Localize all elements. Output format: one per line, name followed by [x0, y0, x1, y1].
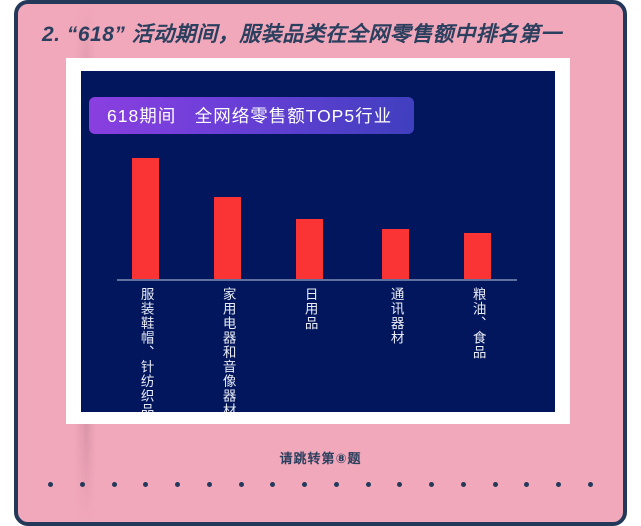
bar-label-1: 家用电器和音像器材	[220, 287, 234, 412]
separator-dot	[493, 482, 498, 487]
separator-dot	[524, 482, 529, 487]
bar-4	[464, 233, 491, 279]
bar-group-4: 粮油、食品	[464, 233, 491, 279]
separator-dot	[366, 482, 371, 487]
separator-dot	[80, 482, 85, 487]
bar-group-2: 日用品	[296, 219, 323, 279]
chart-frame: 618期间 全网络零售额TOP5行业 服装鞋帽、针纺织品 家用电器和音像器材 日…	[66, 58, 570, 424]
bar-chart-plot-area: 服装鞋帽、针纺织品 家用电器和音像器材 日用品 通讯器材 粮油、食品	[81, 71, 555, 412]
separator-dot	[429, 482, 434, 487]
separator-dot	[143, 482, 148, 487]
x-axis-line	[117, 279, 517, 281]
separator-dot	[239, 482, 244, 487]
separator-dot	[556, 482, 561, 487]
bar-group-1: 家用电器和音像器材	[214, 197, 241, 279]
separator-dot	[207, 482, 212, 487]
bar-label-0: 服装鞋帽、针纺织品	[138, 287, 152, 412]
bar-1	[214, 197, 241, 279]
bar-0	[132, 158, 159, 279]
separator-dot	[334, 482, 339, 487]
chart-canvas: 618期间 全网络零售额TOP5行业 服装鞋帽、针纺织品 家用电器和音像器材 日…	[81, 71, 555, 412]
bar-group-3: 通讯器材	[382, 229, 409, 279]
bar-2	[296, 219, 323, 279]
separator-dot	[175, 482, 180, 487]
bar-3	[382, 229, 409, 279]
separator-dot	[302, 482, 307, 487]
separator-dot	[588, 482, 593, 487]
separator-dot	[461, 482, 466, 487]
separator-dot	[397, 482, 402, 487]
separator-dot	[112, 482, 117, 487]
bar-label-3: 通讯器材	[388, 287, 402, 345]
separator-dot	[48, 482, 53, 487]
dot-separator-row	[48, 482, 593, 487]
bar-group-0: 服装鞋帽、针纺织品	[132, 158, 159, 279]
goto-question-note: 请跳转第⑧题	[18, 448, 623, 467]
slide-card: 2. “618” 活动期间，服装品类在全网零售额中排名第一 618期间 全网络零…	[14, 0, 627, 526]
bar-label-2: 日用品	[302, 287, 316, 331]
separator-dot	[270, 482, 275, 487]
bar-label-4: 粮油、食品	[470, 287, 484, 360]
page-title: 2. “618” 活动期间，服装品类在全网零售额中排名第一	[42, 12, 602, 54]
